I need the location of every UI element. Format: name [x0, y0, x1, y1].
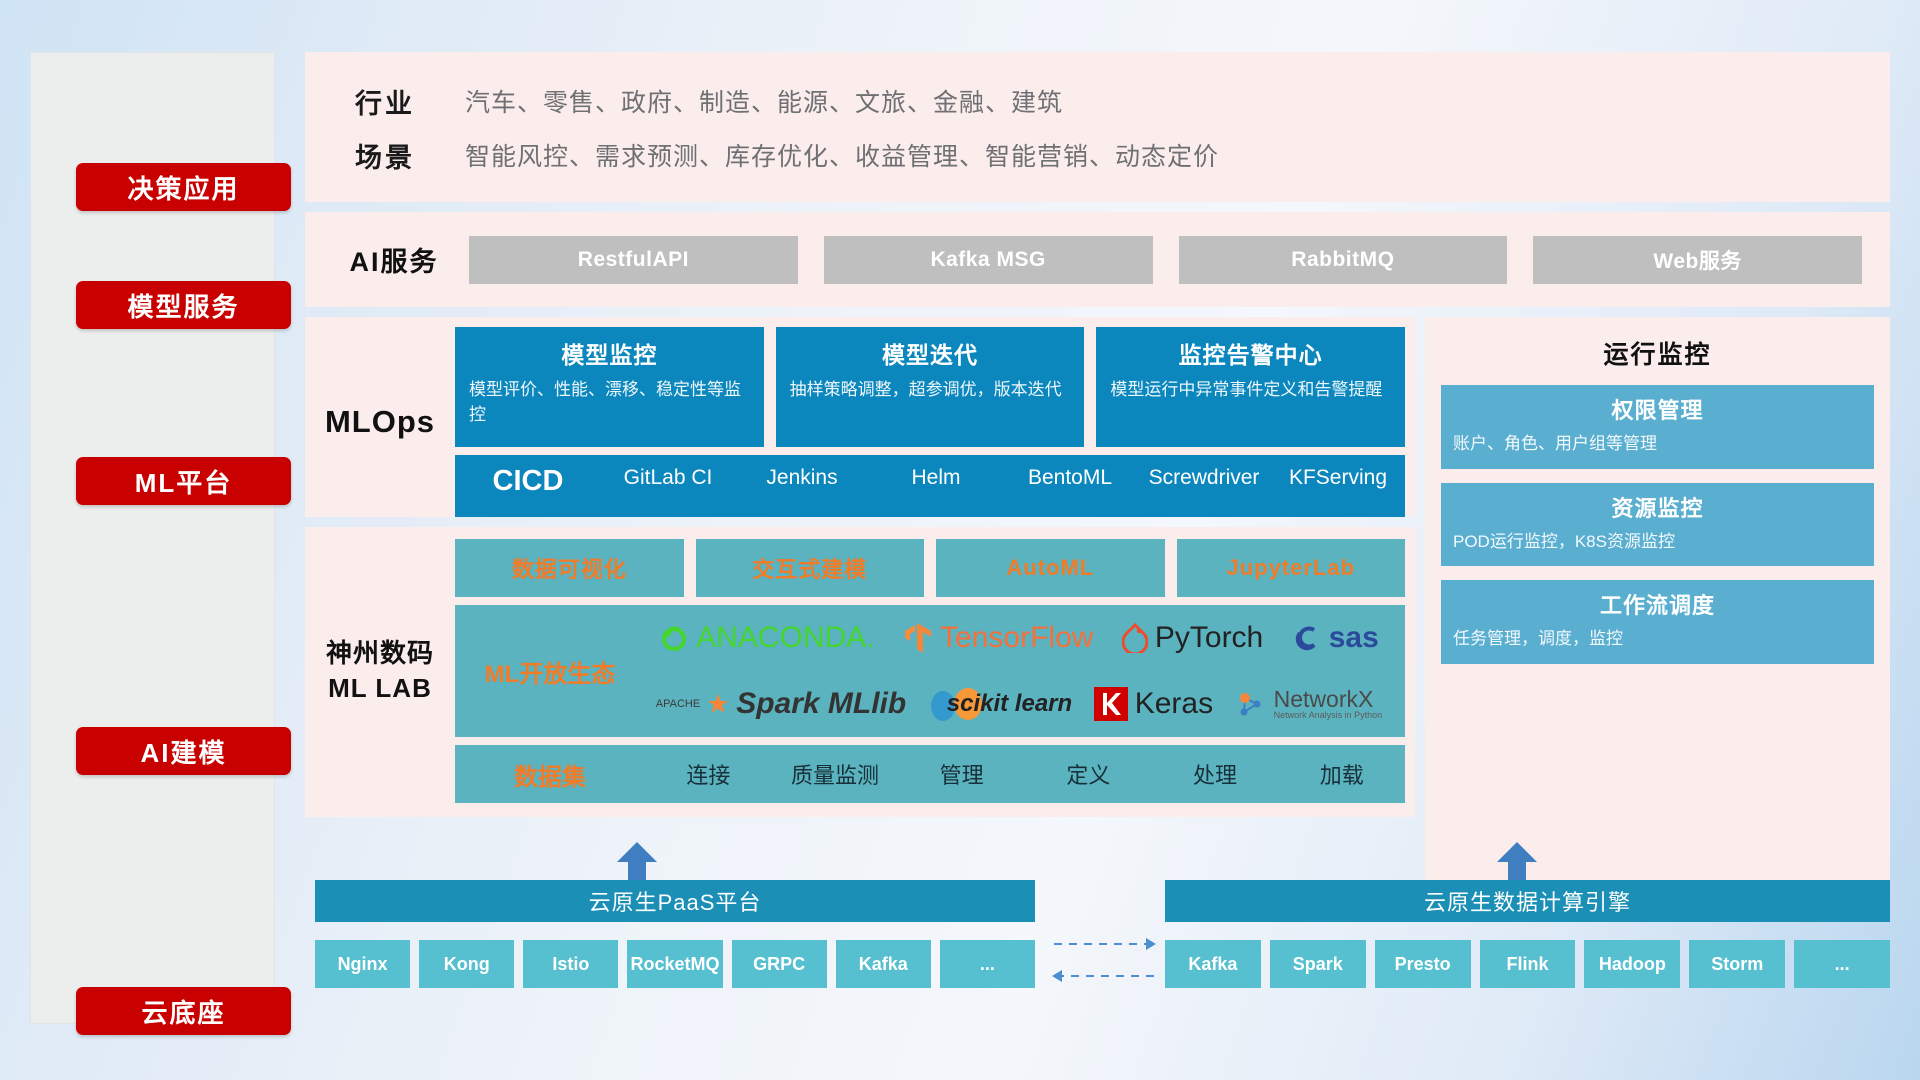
service-chip[interactable]: Kafka MSG: [824, 236, 1153, 284]
sas-logo: sas: [1292, 621, 1379, 655]
paas-chip[interactable]: GRPC: [732, 940, 827, 988]
card-title: 权限管理: [1453, 393, 1862, 425]
industry-scenario-band: 行业 汽车、零售、政府、制造、能源、文旅、金融、建筑 场景 智能风控、需求预测、…: [305, 52, 1890, 202]
scenario-label: 场景: [305, 136, 465, 175]
dataset-row: 数据集 连接 质量监测 管理 定义 处理 加载: [455, 745, 1405, 803]
networkx-logo: NetworkX Network Analysis in Python: [1235, 688, 1383, 720]
dce-chip[interactable]: Presto: [1375, 940, 1471, 988]
sas-text: sas: [1329, 621, 1379, 655]
dataset-item[interactable]: 定义: [1025, 758, 1152, 790]
dce-chip[interactable]: Kafka: [1165, 940, 1261, 988]
networkx-subtitle: Network Analysis in Python: [1274, 711, 1383, 720]
cicd-item[interactable]: KFServing: [1271, 465, 1405, 491]
rail-item-decision-app[interactable]: 决策应用: [76, 163, 291, 211]
dataset-item[interactable]: 处理: [1152, 758, 1279, 790]
card-desc: 任务管理，调度，监控: [1453, 627, 1862, 652]
bidirectional-dashed-link-icon: [1050, 928, 1158, 990]
dce-chip[interactable]: Hadoop: [1584, 940, 1680, 988]
dataset-item[interactable]: 质量监测: [772, 758, 899, 790]
tool-chip-automl[interactable]: AutoML: [936, 539, 1165, 597]
ml-tool-group: 数据可视化 交互式建模 AutoML JupyterLab: [455, 539, 1405, 597]
scikit-learn-logo: scikit learn: [928, 684, 1072, 724]
scenario-row: 场景 智能风控、需求预测、库存优化、收益管理、智能营销、动态定价: [305, 128, 1890, 182]
keras-text: Keras: [1135, 687, 1213, 721]
mlops-card-model-iteration[interactable]: 模型迭代 抽样策略调整，超参调优，版本迭代: [776, 327, 1085, 447]
monitor-card-permission[interactable]: 权限管理 账户、角色、用户组等管理: [1441, 385, 1874, 469]
service-chip[interactable]: RabbitMQ: [1179, 236, 1508, 284]
cicd-item[interactable]: BentoML: [1003, 465, 1137, 491]
ai-service-band: AI服务 RestfulAPI Kafka MSG RabbitMQ Web服务: [305, 212, 1890, 307]
paas-chip[interactable]: Kong: [419, 940, 514, 988]
card-title: 监控告警中心: [1110, 336, 1391, 370]
spark-star-icon: [707, 693, 729, 715]
rail-item-ai-modeling[interactable]: AI建模: [76, 727, 291, 775]
dce-title-bar: 云原生数据计算引擎: [1165, 880, 1890, 922]
rail-item-model-service[interactable]: 模型服务: [76, 281, 291, 329]
rail-label: AI建模: [140, 733, 226, 770]
pytorch-logo: PyTorch: [1122, 621, 1263, 655]
keras-icon: [1094, 687, 1128, 721]
paas-chip[interactable]: Nginx: [315, 940, 410, 988]
ml-ecosystem-label: ML开放生态: [455, 654, 645, 689]
diagram-canvas: 决策应用 模型服务 ML平台 AI建模 云底座 行业 汽车、零售、政府、制造、能…: [0, 0, 1920, 1080]
main-column: 行业 汽车、零售、政府、制造、能源、文旅、金融、建筑 场景 智能风控、需求预测、…: [305, 52, 1890, 902]
paas-chip-group: Nginx Kong Istio RocketMQ GRPC Kafka ...: [315, 940, 1035, 988]
rail-label: ML平台: [135, 463, 233, 500]
cloud-base-section: 云原生PaaS平台 Nginx Kong Istio RocketMQ GRPC…: [305, 880, 1890, 1040]
monitor-column: 运行监控 权限管理 账户、角色、用户组等管理 资源监控 POD运行监控，K8S资…: [1425, 317, 1890, 902]
networkx-text: NetworkX: [1274, 688, 1383, 711]
pytorch-text: PyTorch: [1155, 621, 1263, 655]
spark-mllib-logo: APACHE Spark MLlib: [656, 687, 906, 721]
paas-chip[interactable]: ...: [940, 940, 1035, 988]
cicd-item[interactable]: Screwdriver: [1137, 465, 1271, 491]
scikit-learn-text: scikit learn: [947, 690, 1072, 718]
cicd-item[interactable]: Helm: [869, 465, 1003, 491]
rail-label: 决策应用: [127, 169, 239, 206]
arrow-up-dce-icon: [1495, 842, 1539, 880]
tool-chip-interactive-modeling[interactable]: 交互式建模: [696, 539, 925, 597]
monitor-band: 运行监控 权限管理 账户、角色、用户组等管理 资源监控 POD运行监控，K8S资…: [1425, 317, 1890, 892]
mlops-card-group: 模型监控 模型评价、性能、漂移、稳定性等监控 模型迭代 抽样策略调整，超参调优，…: [455, 327, 1405, 447]
card-title: 模型监控: [469, 336, 750, 370]
industry-row: 行业 汽车、零售、政府、制造、能源、文旅、金融、建筑: [305, 74, 1890, 128]
networkx-icon: [1235, 688, 1267, 720]
rail-label: 模型服务: [127, 287, 239, 324]
dce-chip[interactable]: Spark: [1270, 940, 1366, 988]
dataset-item[interactable]: 管理: [898, 758, 1025, 790]
anaconda-text: ANACONDA.: [696, 621, 874, 655]
industry-values: 汽车、零售、政府、制造、能源、文旅、金融、建筑: [465, 83, 1063, 119]
anaconda-icon: [659, 623, 689, 653]
monitor-card-resource[interactable]: 资源监控 POD运行监控，K8S资源监控: [1441, 483, 1874, 567]
monitor-heading: 运行监控: [1441, 335, 1874, 371]
rail-label: 云底座: [141, 993, 225, 1030]
tensorflow-text: TensorFlow: [940, 621, 1093, 655]
ml-lab-label-line1: 神州数码: [326, 636, 434, 671]
ml-lab-label-line2: ML LAB: [328, 671, 432, 706]
paas-title-bar: 云原生PaaS平台: [315, 880, 1035, 922]
dce-chip-group: Kafka Spark Presto Flink Hadoop Storm ..…: [1165, 940, 1890, 988]
card-title: 模型迭代: [790, 336, 1071, 370]
rail-item-cloud-base[interactable]: 云底座: [76, 987, 291, 1035]
ml-ecosystem-row: ML开放生态 ANACONDA.: [455, 605, 1405, 737]
mlops-card-model-monitoring[interactable]: 模型监控 模型评价、性能、漂移、稳定性等监控: [455, 327, 764, 447]
ai-service-label: AI服务: [319, 240, 469, 279]
arrow-up-paas-icon: [615, 842, 659, 880]
cicd-title: CICD: [455, 465, 601, 498]
card-desc: POD运行监控，K8S资源监控: [1453, 530, 1862, 555]
dce-chip[interactable]: ...: [1794, 940, 1890, 988]
service-chip[interactable]: RestfulAPI: [469, 236, 798, 284]
service-chip[interactable]: Web服务: [1533, 236, 1862, 284]
card-desc: 账户、角色、用户组等管理: [1453, 432, 1862, 457]
card-desc: 模型评价、性能、漂移、稳定性等监控: [469, 378, 750, 427]
industry-label: 行业: [305, 82, 465, 121]
mlops-card-alert-center[interactable]: 监控告警中心 模型运行中异常事件定义和告警提醒: [1096, 327, 1405, 447]
tool-chip-jupyterlab[interactable]: JupyterLab: [1177, 539, 1406, 597]
anaconda-logo: ANACONDA.: [659, 621, 874, 655]
ecosystem-logo-line-2: APACHE Spark MLlib: [645, 673, 1393, 735]
paas-chip[interactable]: Kafka: [836, 940, 931, 988]
tool-chip-data-visualization[interactable]: 数据可视化: [455, 539, 684, 597]
cicd-bar: CICD GitLab CI Jenkins Helm BentoML Scre…: [455, 455, 1405, 517]
mlops-band: MLOps 模型监控 模型评价、性能、漂移、稳定性等监控 模型迭代 抽样策略调整…: [305, 317, 1415, 517]
mlops-left-column: MLOps 模型监控 模型评价、性能、漂移、稳定性等监控 模型迭代 抽样策略调整…: [305, 317, 1415, 902]
ecosystem-logo-line-1: ANACONDA. TensorFlow: [645, 607, 1393, 669]
left-rail: 决策应用 模型服务 ML平台 AI建模 云底座: [30, 52, 275, 1024]
ai-service-chip-group: RestfulAPI Kafka MSG RabbitMQ Web服务: [469, 236, 1876, 284]
rail-item-ml-platform[interactable]: ML平台: [76, 457, 291, 505]
scenario-values: 智能风控、需求预测、库存优化、收益管理、智能营销、动态定价: [465, 137, 1219, 173]
keras-logo: Keras: [1094, 687, 1213, 721]
dce-chip[interactable]: Storm: [1689, 940, 1785, 988]
spark-mllib-text: Spark MLlib: [736, 687, 906, 721]
card-desc: 抽样策略调整，超参调优，版本迭代: [790, 378, 1071, 403]
dataset-item[interactable]: 加载: [1278, 758, 1405, 790]
pytorch-icon: [1122, 623, 1148, 653]
paas-column: 云原生PaaS平台 Nginx Kong Istio RocketMQ GRPC…: [315, 880, 1035, 988]
mlops-and-monitor: MLOps 模型监控 模型评价、性能、漂移、稳定性等监控 模型迭代 抽样策略调整…: [305, 317, 1890, 902]
ml-lab-band: 神州数码 ML LAB 数据可视化 交互式建模 AutoML JupyterLa…: [305, 527, 1415, 817]
sas-icon: [1292, 623, 1322, 653]
ml-lab-label: 神州数码 ML LAB: [305, 539, 455, 803]
card-title: 工作流调度: [1453, 588, 1862, 620]
card-title: 资源监控: [1453, 491, 1862, 523]
apache-text: APACHE: [656, 698, 700, 710]
dce-chip[interactable]: Flink: [1480, 940, 1576, 988]
paas-chip[interactable]: RocketMQ: [627, 940, 722, 988]
cicd-item[interactable]: Jenkins: [735, 465, 869, 491]
monitor-card-workflow[interactable]: 工作流调度 任务管理，调度，监控: [1441, 580, 1874, 664]
dataset-item[interactable]: 连接: [645, 758, 772, 790]
tensorflow-logo: TensorFlow: [903, 621, 1093, 655]
card-desc: 模型运行中异常事件定义和告警提醒: [1110, 378, 1391, 403]
dce-column: 云原生数据计算引擎 Kafka Spark Presto Flink Hadoo…: [1165, 880, 1890, 988]
cicd-item[interactable]: GitLab CI: [601, 465, 735, 491]
paas-chip[interactable]: Istio: [523, 940, 618, 988]
tensorflow-icon: [903, 621, 933, 655]
dataset-label: 数据集: [455, 757, 645, 792]
mlops-label: MLOps: [305, 327, 455, 517]
